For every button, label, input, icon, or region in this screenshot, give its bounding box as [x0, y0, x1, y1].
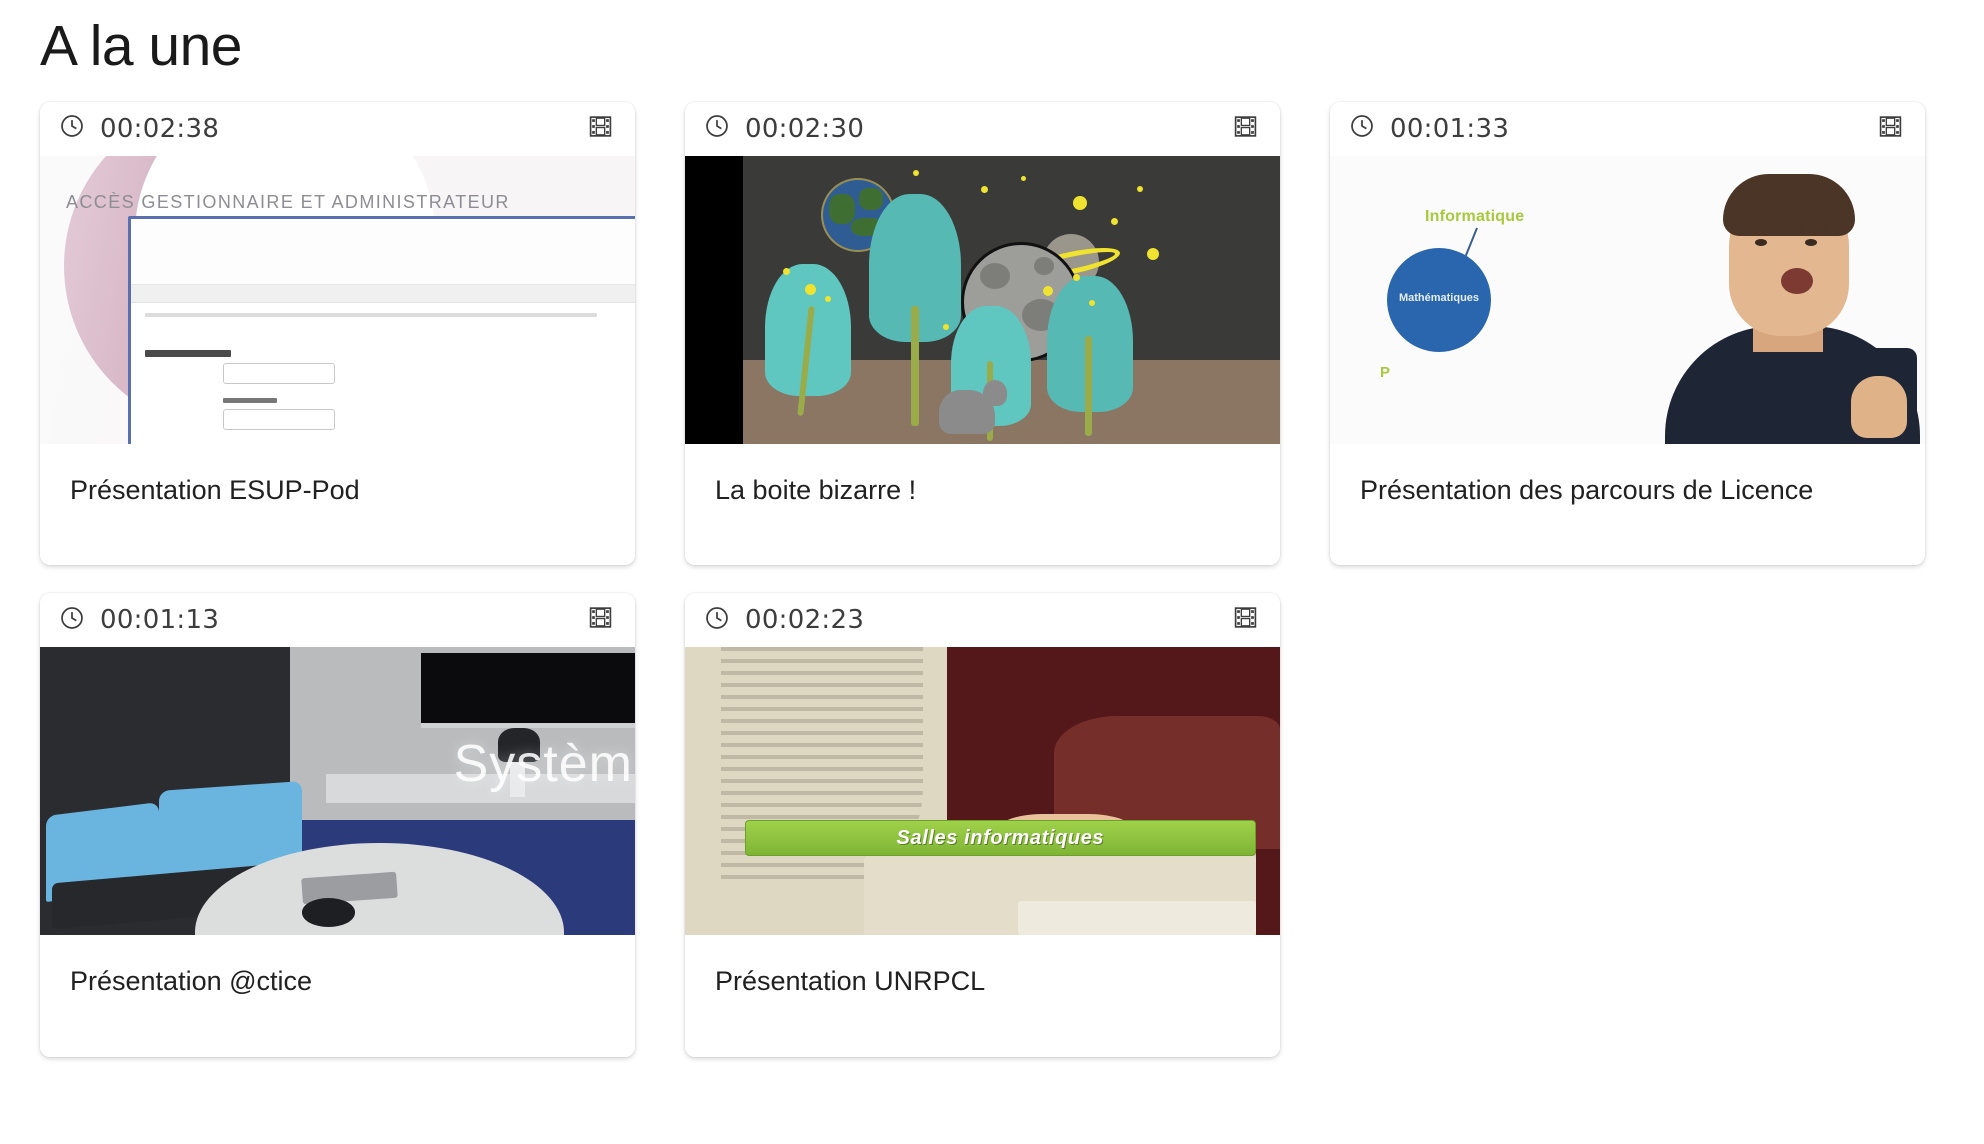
video-thumbnail[interactable]	[685, 156, 1280, 444]
clock-icon	[59, 605, 85, 636]
duration-text: 00:01:33	[1390, 114, 1509, 144]
film-icon	[1233, 114, 1258, 144]
video-thumbnail[interactable]: Informatique Mathématiques P	[1330, 156, 1925, 444]
video-card-grid: 00:02:38 ACCÈS GESTIONNAIRE ET ADMINI	[40, 102, 1944, 1058]
video-title[interactable]: Présentation des parcours de Licence	[1330, 444, 1925, 566]
clock-icon	[704, 605, 730, 636]
card-header: 00:01:33	[1330, 102, 1925, 156]
diagram-node: Mathématiques	[1387, 248, 1491, 352]
duration-group: 00:02:23	[704, 605, 864, 636]
card-header: 00:01:13	[40, 593, 635, 647]
video-thumbnail[interactable]: Salles informatiques	[685, 647, 1280, 935]
video-card[interactable]: 00:02:23	[685, 593, 1280, 1057]
card-header: 00:02:30	[685, 102, 1280, 156]
star	[805, 284, 816, 295]
presenter-figure	[1655, 156, 1925, 444]
duration-group: 00:02:38	[59, 113, 219, 144]
video-card[interactable]: 00:01:33 Informatique Mathématiques	[1330, 102, 1925, 566]
dog	[939, 390, 995, 434]
star	[1073, 196, 1087, 210]
card-header: 00:02:38	[40, 102, 635, 156]
film-icon	[1878, 114, 1903, 144]
star	[1111, 218, 1118, 225]
clock-icon	[704, 113, 730, 144]
video-title[interactable]: Présentation @ctice	[40, 935, 635, 1057]
tree-trunk	[911, 306, 919, 426]
film-icon	[588, 114, 613, 144]
diagram-small-label: P	[1380, 364, 1390, 381]
wall-display	[421, 653, 635, 728]
clock-icon	[59, 113, 85, 144]
thumbnail-caption: Salles informatiques	[897, 827, 1105, 850]
thumbnail-caption: ACCÈS GESTIONNAIRE ET ADMINISTRATEUR	[66, 192, 510, 213]
star	[1147, 248, 1159, 260]
screenshot-window	[128, 216, 635, 444]
video-card[interactable]: 00:02:38 ACCÈS GESTIONNAIRE ET ADMINI	[40, 102, 635, 566]
duration-group: 00:01:13	[59, 605, 219, 636]
video-title[interactable]: La boite bizarre !	[685, 444, 1280, 566]
diagram-node-label: Mathématiques	[1387, 292, 1491, 304]
duration-group: 00:01:33	[1349, 113, 1509, 144]
video-title[interactable]: Présentation ESUP-Pod	[40, 444, 635, 566]
star	[783, 268, 790, 275]
video-thumbnail[interactable]: Systèm	[40, 647, 635, 935]
star	[1043, 286, 1053, 296]
duration-text: 00:01:13	[100, 605, 219, 635]
featured-videos-page: A la une 00:02:38	[0, 0, 1984, 1057]
clock-icon	[1349, 113, 1375, 144]
duration-text: 00:02:23	[745, 605, 864, 635]
thumbnail-caption: Systèm	[454, 734, 633, 794]
star	[1137, 186, 1143, 192]
star	[825, 296, 831, 302]
video-card[interactable]: 00:02:30	[685, 102, 1280, 566]
card-header: 00:02:23	[685, 593, 1280, 647]
video-thumbnail[interactable]: ACCÈS GESTIONNAIRE ET ADMINISTRATEUR	[40, 156, 635, 444]
caption-banner: Salles informatiques	[745, 820, 1257, 856]
space-scene	[743, 156, 1280, 444]
star	[913, 170, 919, 176]
paper-sheet	[1018, 901, 1256, 936]
conference-speaker	[302, 898, 356, 927]
video-title[interactable]: Présentation UNRPCL	[685, 935, 1280, 1057]
tree-trunk	[1085, 336, 1092, 436]
diagram-branch-label: Informatique	[1425, 208, 1524, 226]
film-icon	[588, 605, 613, 635]
star	[981, 186, 988, 193]
duration-text: 00:02:38	[100, 114, 219, 144]
star	[1073, 274, 1080, 281]
star	[1089, 300, 1095, 306]
star	[1021, 176, 1026, 181]
film-icon	[1233, 605, 1258, 635]
duration-group: 00:02:30	[704, 113, 864, 144]
duration-text: 00:02:30	[745, 114, 864, 144]
star	[943, 324, 949, 330]
page-title: A la une	[40, 0, 1944, 102]
video-card[interactable]: 00:01:13	[40, 593, 635, 1057]
